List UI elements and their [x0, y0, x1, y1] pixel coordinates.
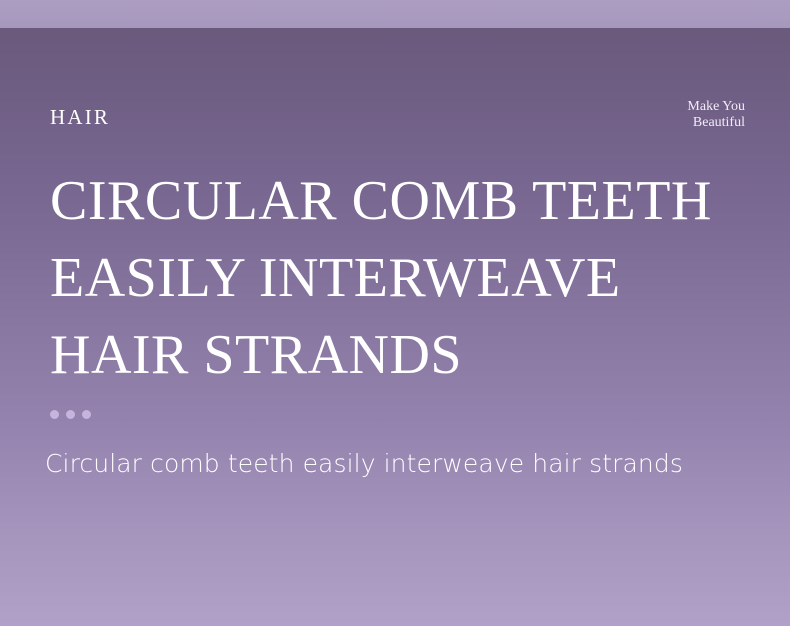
dot-divider	[50, 410, 91, 419]
brand-tagline-line-2: Beautiful	[585, 115, 745, 131]
divider-dot-1	[50, 410, 59, 419]
headline-line-1: CIRCULAR COMB TEETH	[50, 163, 760, 240]
divider-dot-2	[66, 410, 75, 419]
headline-line-3: HAIR STRANDS	[50, 317, 760, 394]
page-title: CIRCULAR COMB TEETH EASILY INTERWEAVE HA…	[50, 163, 760, 394]
headline-line-2: EASILY INTERWEAVE	[50, 240, 760, 317]
top-accent-strip	[0, 0, 790, 28]
category-eyebrow: HAIR	[50, 105, 110, 129]
brand-tagline-line-1: Make You	[585, 99, 745, 115]
subtitle-text: Circular comb teeth easily interweave ha…	[45, 447, 683, 481]
hair-promo-banner: HAIR Make You Beautiful CIRCULAR COMB TE…	[0, 0, 790, 626]
brand-tagline: Make You Beautiful	[585, 99, 745, 131]
divider-dot-3	[82, 410, 91, 419]
